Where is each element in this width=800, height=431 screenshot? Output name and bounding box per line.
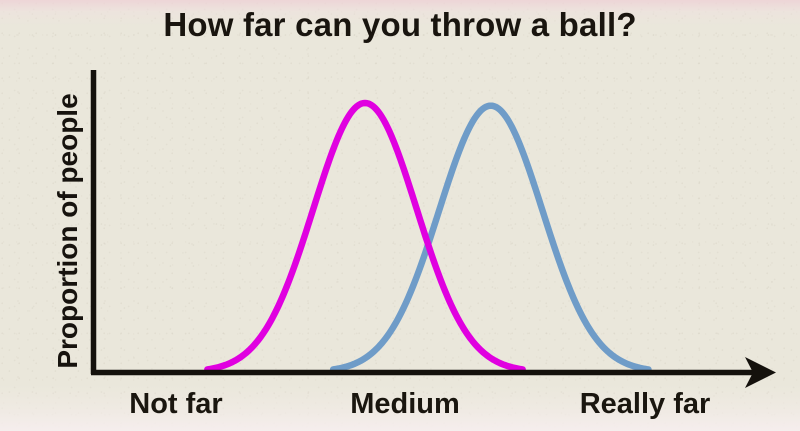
blue-curve [333,106,648,370]
x-tick-label-medium: Medium [350,388,460,421]
chart-figure: How far can you throw a ball? Proportion… [0,0,800,431]
magenta-curve [207,103,522,369]
x-tick-label-really-far: Really far [580,388,711,421]
x-tick-label-not-far: Not far [129,388,222,421]
plot-area [0,0,800,431]
